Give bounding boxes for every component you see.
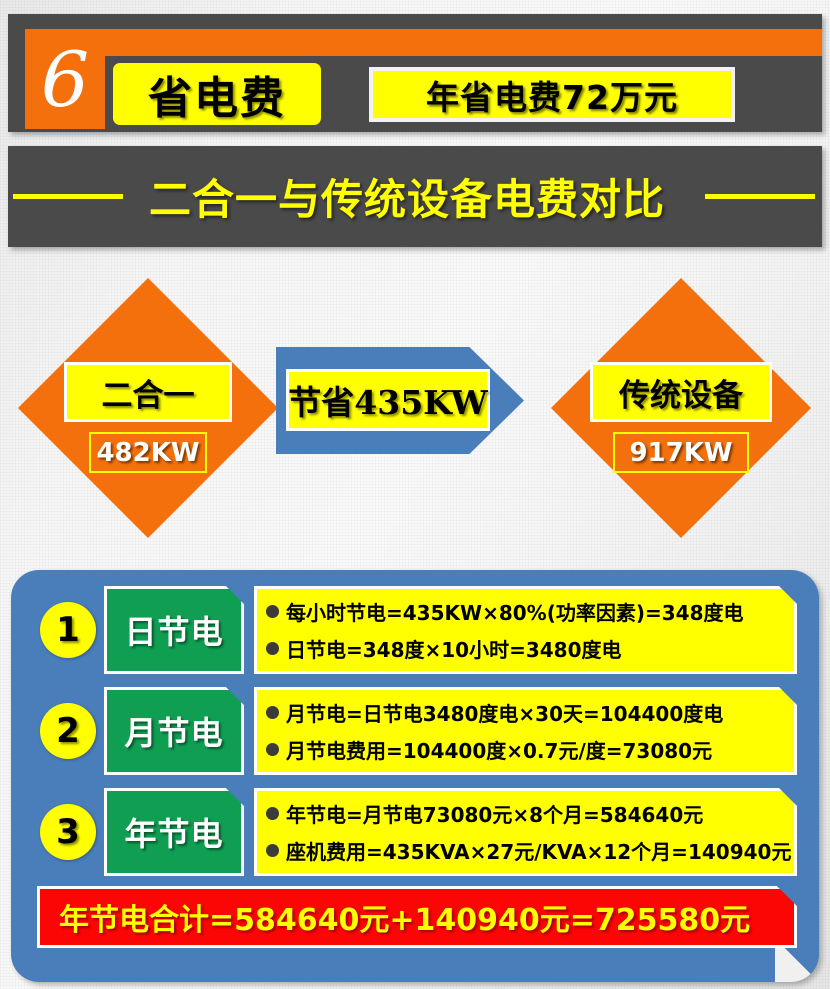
comparison-right-label-box: 传统设备 <box>590 362 772 422</box>
step-name-label: 月节电 <box>124 708 223 754</box>
step-detail-box: 月节电=日节电3480度电×30天=104400度电 月节电费用=104400度… <box>254 687 797 775</box>
comparison-right-diamond: 传统设备 917KW <box>551 278 811 538</box>
bullet-text: 座机费用=435KVA×27元/KVA×12个月=140940元 <box>286 836 791 865</box>
step-name-label: 日节电 <box>124 607 223 653</box>
section-title: 省电费 <box>148 62 286 126</box>
savings-arrow-label: 节省435KW <box>288 376 487 424</box>
bullet-text: 月节电费用=104400度×0.7元/度=73080元 <box>286 735 712 764</box>
bullet-line: 月节电=日节电3480度电×30天=104400度电 <box>266 694 797 731</box>
bullet-line: 座机费用=435KVA×27元/KVA×12个月=140940元 <box>266 832 797 869</box>
step-name-box: 日节电 <box>104 586 244 674</box>
bullet-dot-icon <box>266 605 279 618</box>
total-savings-bar: 年节电合计=584640元+140940元=725580元 <box>37 886 797 948</box>
step-name-label: 年节电 <box>124 809 223 855</box>
savings-arrow: 节省435KW <box>276 347 524 454</box>
calculation-panel: 1 日节电 每小时节电=435KW×80%(功率因素)=348度电 日节电=34… <box>11 570 819 982</box>
subtitle-text: 二合一与传统设备电费对比 <box>149 166 665 227</box>
bullet-text: 日节电=348度×10小时=3480度电 <box>286 634 622 663</box>
section-title-box: 省电费 <box>113 63 321 125</box>
step-detail-box: 每小时节电=435KW×80%(功率因素)=348度电 日节电=348度×10小… <box>254 586 797 674</box>
header-banner-text: 年省电费72万元 <box>426 71 678 119</box>
comparison-left-label-box: 二合一 <box>64 362 232 422</box>
bullet-line: 年节电=月节电73080元×8个月=584640元 <box>266 795 797 832</box>
step-number: 2 <box>56 714 80 748</box>
bullet-text: 每小时节电=435KW×80%(功率因素)=348度电 <box>286 597 743 626</box>
bullet-dot-icon <box>266 743 279 756</box>
step-number-badge: 2 <box>40 703 96 759</box>
subtitle-bar: 二合一与传统设备电费对比 <box>8 146 822 247</box>
bullet-text: 月节电=日节电3480度电×30天=104400度电 <box>286 698 723 727</box>
savings-arrow-label-box: 节省435KW <box>286 369 490 431</box>
bullet-dot-icon <box>266 844 279 857</box>
comparison-left-diamond: 二合一 482KW <box>18 278 278 538</box>
header-banner-box: 年省电费72万元 <box>369 67 735 122</box>
total-savings-text: 年节电合计=584640元+140940元=725580元 <box>59 895 750 939</box>
comparison-right-value: 917KW <box>629 438 732 468</box>
step-number: 3 <box>56 815 80 849</box>
comparison-right-value-box: 917KW <box>613 432 749 473</box>
step-name-box: 月节电 <box>104 687 244 775</box>
bullet-text: 年节电=月节电73080元×8个月=584640元 <box>286 799 703 828</box>
comparison-right-label: 传统设备 <box>619 370 743 415</box>
section-number-block: 6 <box>25 29 105 129</box>
bullet-dot-icon <box>266 807 279 820</box>
step-number-badge: 3 <box>40 804 96 860</box>
comparison-left-label: 二合一 <box>102 370 195 415</box>
subtitle-rule-right-icon <box>705 194 815 199</box>
step-name-box: 年节电 <box>104 788 244 876</box>
section-number: 6 <box>41 42 89 118</box>
calculation-row: 3 年节电 年节电=月节电73080元×8个月=584640元 座机费用=435… <box>37 786 797 878</box>
bullet-line: 日节电=348度×10小时=3480度电 <box>266 630 797 667</box>
bullet-line: 月节电费用=104400度×0.7元/度=73080元 <box>266 731 797 768</box>
bullet-dot-icon <box>266 642 279 655</box>
subtitle-rule-left-icon <box>13 194 123 199</box>
comparison-left-value: 482KW <box>96 438 199 468</box>
comparison-left-value-box: 482KW <box>89 432 207 473</box>
header-bar: 6 省电费 年省电费72万元 <box>8 14 822 132</box>
bullet-dot-icon <box>266 706 279 719</box>
infographic-page: 6 省电费 年省电费72万元 二合一与传统设备电费对比 二合一 482KW 节省… <box>0 0 830 989</box>
step-number: 1 <box>56 613 80 647</box>
bullet-line: 每小时节电=435KW×80%(功率因素)=348度电 <box>266 593 797 630</box>
header-orange-strip <box>25 29 822 56</box>
calculation-row: 1 日节电 每小时节电=435KW×80%(功率因素)=348度电 日节电=34… <box>37 584 797 676</box>
step-number-badge: 1 <box>40 602 96 658</box>
calculation-row: 2 月节电 月节电=日节电3480度电×30天=104400度电 月节电费用=1… <box>37 685 797 777</box>
step-detail-box: 年节电=月节电73080元×8个月=584640元 座机费用=435KVA×27… <box>254 788 797 876</box>
